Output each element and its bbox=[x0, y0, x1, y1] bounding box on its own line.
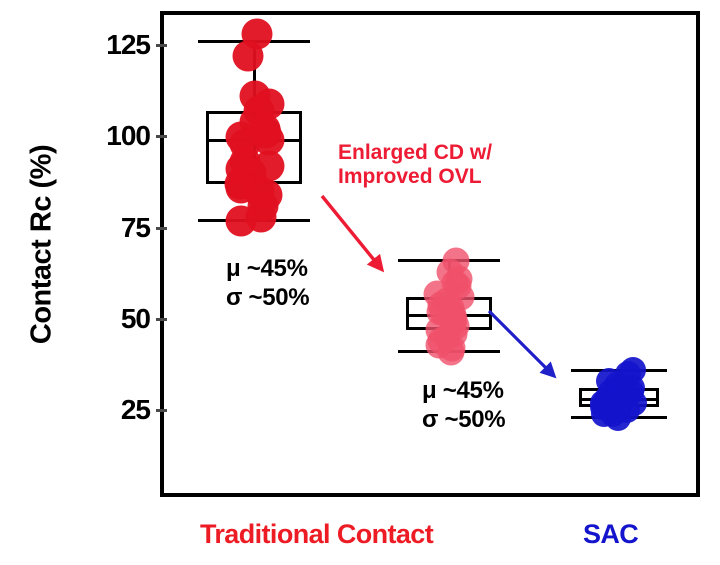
y-tick-label-100: 100 bbox=[78, 122, 150, 150]
x-label-sac: SAC bbox=[583, 519, 638, 550]
chart-figure: Contact Rc (%) 125100755025 Enlarged CD … bbox=[0, 0, 720, 565]
y-tick-label-75: 75 bbox=[78, 214, 150, 242]
y-tick-mark bbox=[156, 44, 167, 47]
y-tick-mark bbox=[156, 227, 167, 230]
data-point bbox=[605, 405, 631, 431]
plot-area-frame: Enlarged CD w/ Improved OVL μ ~45% σ ~50… bbox=[160, 11, 700, 497]
y-tick-label-50: 50 bbox=[78, 305, 150, 333]
y-axis-tick-labels: 125100755025 bbox=[72, 0, 150, 565]
enlarged-cd-annotation: Enlarged CD w/ Improved OVL bbox=[338, 141, 492, 188]
y-tick-label-25: 25 bbox=[78, 396, 150, 424]
y-axis-title: Contact Rc (%) bbox=[26, 85, 59, 405]
stats-traditional-label: μ ~45% σ ~50% bbox=[226, 255, 309, 313]
y-tick-mark bbox=[156, 318, 167, 321]
y-tick-label-125: 125 bbox=[78, 31, 150, 59]
x-label-traditional-contact: Traditional Contact bbox=[200, 519, 433, 550]
y-tick-mark bbox=[156, 135, 167, 138]
plot-inner: Enlarged CD w/ Improved OVL μ ~45% σ ~50… bbox=[164, 15, 696, 493]
stats-enlarged-label: μ ~45% σ ~50% bbox=[422, 377, 505, 435]
y-tick-mark bbox=[156, 409, 167, 412]
